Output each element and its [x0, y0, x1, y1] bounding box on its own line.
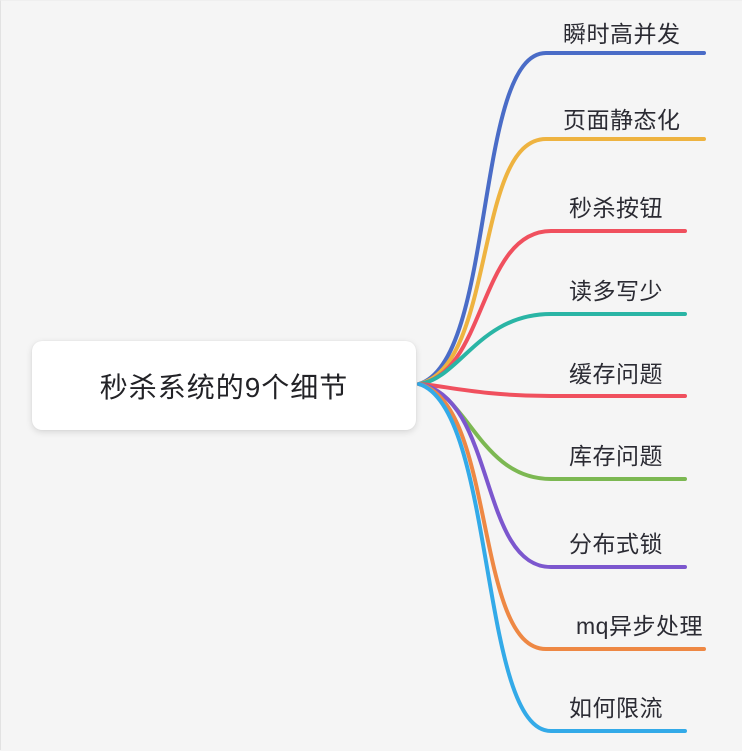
- branch-label-8[interactable]: mq异步处理: [576, 615, 703, 638]
- branch-connector-9: [419, 384, 685, 731]
- branch-label-4[interactable]: 读多写少: [569, 280, 663, 303]
- mindmap-canvas: 秒杀系统的9个细节 瞬时高并发页面静态化秒杀按钮读多写少缓存问题库存问题分布式锁…: [0, 0, 742, 750]
- branch-label-7[interactable]: 分布式锁: [569, 533, 663, 556]
- branch-label-1[interactable]: 瞬时高并发: [563, 23, 681, 46]
- branch-label-5[interactable]: 缓存问题: [569, 363, 663, 386]
- branch-label-2[interactable]: 页面静态化: [563, 109, 681, 132]
- branch-label-9[interactable]: 如何限流: [569, 697, 663, 720]
- branch-label-3[interactable]: 秒杀按钮: [569, 197, 663, 220]
- branch-connector-8: [419, 384, 704, 649]
- root-node[interactable]: 秒杀系统的9个细节: [32, 341, 416, 430]
- branch-label-6[interactable]: 库存问题: [569, 445, 663, 468]
- root-node-label: 秒杀系统的9个细节: [100, 366, 349, 406]
